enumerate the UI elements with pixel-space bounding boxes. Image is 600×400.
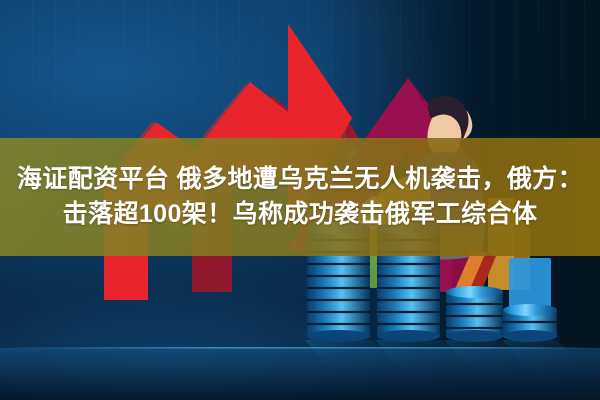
headline-text-block: 海证配资平台 俄多地遭乌克兰无人机袭击，俄方： 击落超100架！乌称成功袭击俄军… xyxy=(0,138,600,256)
headline-line-1: 海证配资平台 俄多地遭乌克兰无人机袭击，俄方： xyxy=(17,165,583,195)
coin-stack-3 xyxy=(446,286,503,342)
news-banner-image: 海证配资平台 俄多地遭乌克兰无人机袭击，俄方： 击落超100架！乌称成功袭击俄军… xyxy=(0,0,600,400)
floor-surface xyxy=(0,348,600,400)
coin-stack-4 xyxy=(503,258,557,342)
headline-line-2: 击落超100架！乌称成功袭击俄军工综合体 xyxy=(63,200,538,230)
